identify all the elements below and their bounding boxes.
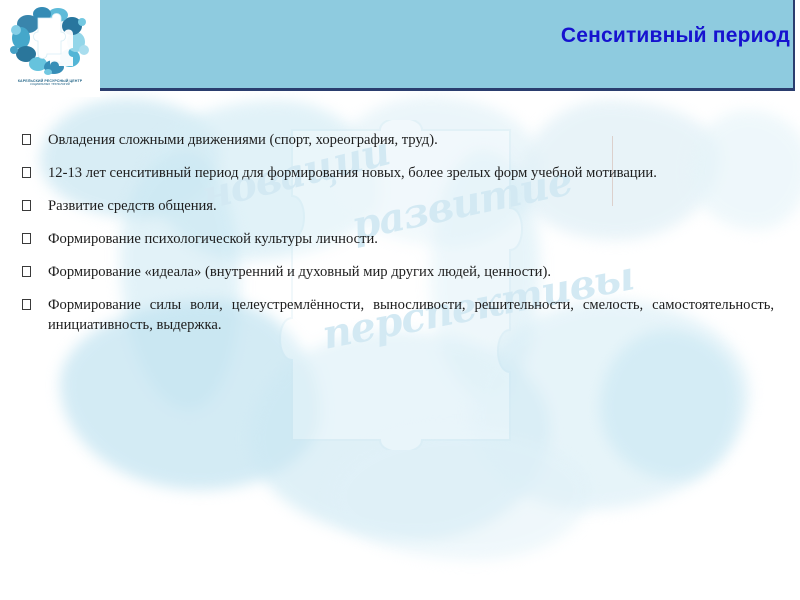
bullet-box-icon: [22, 262, 48, 282]
list-item-text: Формирование психологической культуры ли…: [48, 229, 774, 249]
logo-container: КАРЕЛЬСКИЙ РЕСУРСНЫЙ ЦЕНТР социальных те…: [0, 0, 100, 97]
slide-header: Сенситивный период: [0, 0, 800, 92]
bullet-box-icon: [22, 295, 48, 315]
list-item-text: Формирование «идеала» (внутренний и духо…: [48, 262, 774, 282]
header-underline: [48, 88, 794, 91]
list-item-text: Формирование силы воли, целеустремлённос…: [48, 295, 774, 335]
list-item-text: 12-13 лет сенситивный период для формиро…: [48, 163, 774, 183]
list-item-text: Овладения сложными движениями (спорт, хо…: [48, 130, 774, 150]
list-item: Формирование психологической культуры ли…: [22, 229, 774, 249]
list-item: Формирование силы воли, целеустремлённос…: [22, 295, 774, 335]
logo-caption-line2: социальных технологий: [0, 83, 100, 87]
page-title: Сенситивный период: [561, 24, 790, 48]
bullet-list: Овладения сложными движениями (спорт, хо…: [22, 130, 774, 348]
bullet-box-icon: [22, 163, 48, 183]
list-item: 12-13 лет сенситивный период для формиро…: [22, 163, 774, 183]
slide-root: новации развитие перспективы Сенситивный…: [0, 0, 800, 600]
list-item: Развитие средств общения.: [22, 196, 774, 216]
list-item: Формирование «идеала» (внутренний и духо…: [22, 262, 774, 282]
logo-caption: КАРЕЛЬСКИЙ РЕСУРСНЫЙ ЦЕНТР социальных те…: [0, 79, 100, 87]
bullet-box-icon: [22, 229, 48, 249]
list-item-text: Развитие средств общения.: [48, 196, 774, 216]
slide-body: Овладения сложными движениями (спорт, хо…: [0, 92, 800, 600]
puzzle-piece-logo-icon: [8, 4, 92, 76]
header-right-rule: [793, 0, 795, 91]
bullet-box-icon: [22, 130, 48, 150]
list-item: Овладения сложными движениями (спорт, хо…: [22, 130, 774, 150]
bullet-box-icon: [22, 196, 48, 216]
